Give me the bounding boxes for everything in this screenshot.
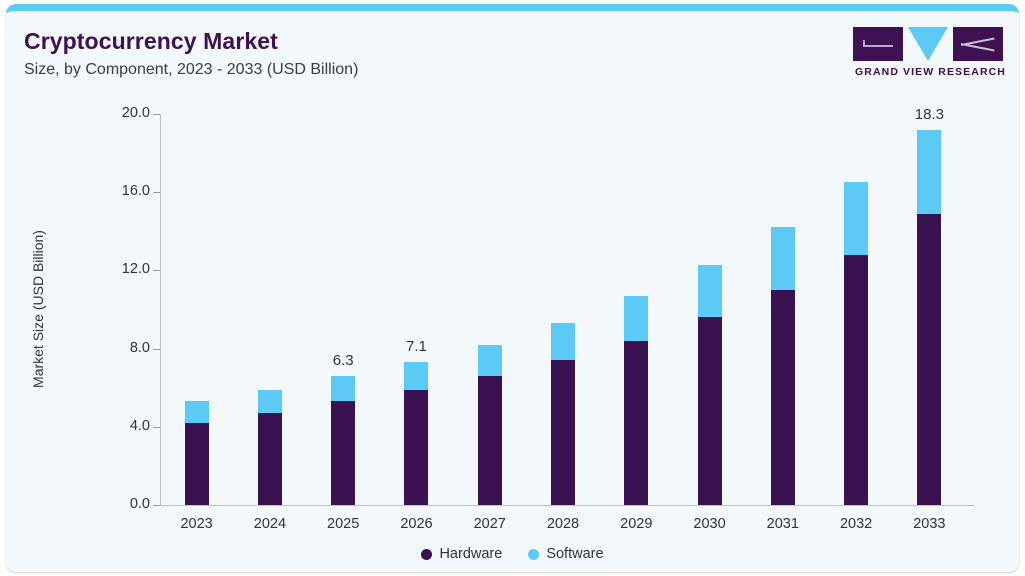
- legend-label: Software: [546, 546, 603, 562]
- legend-item-software[interactable]: Software: [528, 546, 603, 562]
- x-axis-tick-label: 2024: [235, 516, 305, 532]
- x-axis-tick-label: 2025: [308, 516, 378, 532]
- y-axis-tick-mark: [153, 427, 160, 428]
- y-axis-tick-label: 12.0: [104, 261, 150, 277]
- y-axis-title: Market Size (USD Billion): [30, 159, 46, 459]
- y-axis-tick-mark: [153, 192, 160, 193]
- bar-segment-hardware[interactable]: [258, 413, 282, 505]
- legend-swatch-icon: [421, 549, 432, 560]
- x-axis-tick-label: 2030: [675, 516, 745, 532]
- bar-segment-hardware[interactable]: [551, 360, 575, 505]
- bar-value-label: 7.1: [381, 338, 451, 355]
- bar-segment-software[interactable]: [624, 296, 648, 341]
- bar-segment-hardware[interactable]: [844, 255, 868, 505]
- y-axis-tick-label: 16.0: [104, 183, 150, 199]
- legend-label: Hardware: [439, 546, 502, 562]
- bar-segment-hardware[interactable]: [698, 317, 722, 505]
- bar-segment-hardware[interactable]: [917, 214, 941, 505]
- y-axis-tick-label: 0.0: [104, 496, 150, 512]
- x-axis-line: [160, 505, 974, 506]
- bar-segment-software[interactable]: [258, 390, 282, 413]
- y-axis-tick-mark: [153, 505, 160, 506]
- bar-segment-software[interactable]: [698, 265, 722, 318]
- bar-segment-software[interactable]: [771, 227, 795, 290]
- bar-value-label: 18.3: [894, 106, 964, 123]
- chart-card: Cryptocurrency Market Size, by Component…: [6, 4, 1019, 572]
- y-axis-tick-mark: [153, 349, 160, 350]
- legend-swatch-icon: [528, 549, 539, 560]
- bar-segment-software[interactable]: [917, 130, 941, 214]
- x-axis-tick-label: 2027: [455, 516, 525, 532]
- chart-plot-area: Market Size (USD Billion) 0.04.08.012.01…: [6, 11, 1019, 572]
- y-axis-tick-mark: [153, 270, 160, 271]
- bar-segment-hardware[interactable]: [185, 423, 209, 505]
- y-axis-tick-label: 8.0: [104, 340, 150, 356]
- bar-segment-hardware[interactable]: [624, 341, 648, 505]
- y-axis-tick-mark: [153, 114, 160, 115]
- bar-segment-software[interactable]: [404, 362, 428, 389]
- bar-segment-hardware[interactable]: [771, 290, 795, 505]
- bar-segment-software[interactable]: [478, 345, 502, 376]
- bar-value-label: 6.3: [308, 352, 378, 369]
- bar-segment-software[interactable]: [331, 376, 355, 401]
- bar-segment-hardware[interactable]: [331, 401, 355, 505]
- x-axis-tick-label: 2028: [528, 516, 598, 532]
- x-axis-tick-label: 2029: [601, 516, 671, 532]
- x-axis-tick-label: 2032: [821, 516, 891, 532]
- y-axis-line: [160, 114, 161, 506]
- bar-segment-software[interactable]: [185, 401, 209, 423]
- bar-segment-hardware[interactable]: [404, 390, 428, 505]
- x-axis-tick-label: 2033: [894, 516, 964, 532]
- y-axis-tick-label: 20.0: [104, 105, 150, 121]
- x-axis-tick-label: 2031: [748, 516, 818, 532]
- bar-segment-software[interactable]: [844, 182, 868, 254]
- bar-segment-software[interactable]: [551, 323, 575, 360]
- chart-legend: HardwareSoftware: [6, 546, 1019, 562]
- bar-segment-hardware[interactable]: [478, 376, 502, 505]
- x-axis-tick-label: 2023: [162, 516, 232, 532]
- x-axis-tick-label: 2026: [381, 516, 451, 532]
- y-axis-tick-label: 4.0: [104, 418, 150, 434]
- legend-item-hardware[interactable]: Hardware: [421, 546, 502, 562]
